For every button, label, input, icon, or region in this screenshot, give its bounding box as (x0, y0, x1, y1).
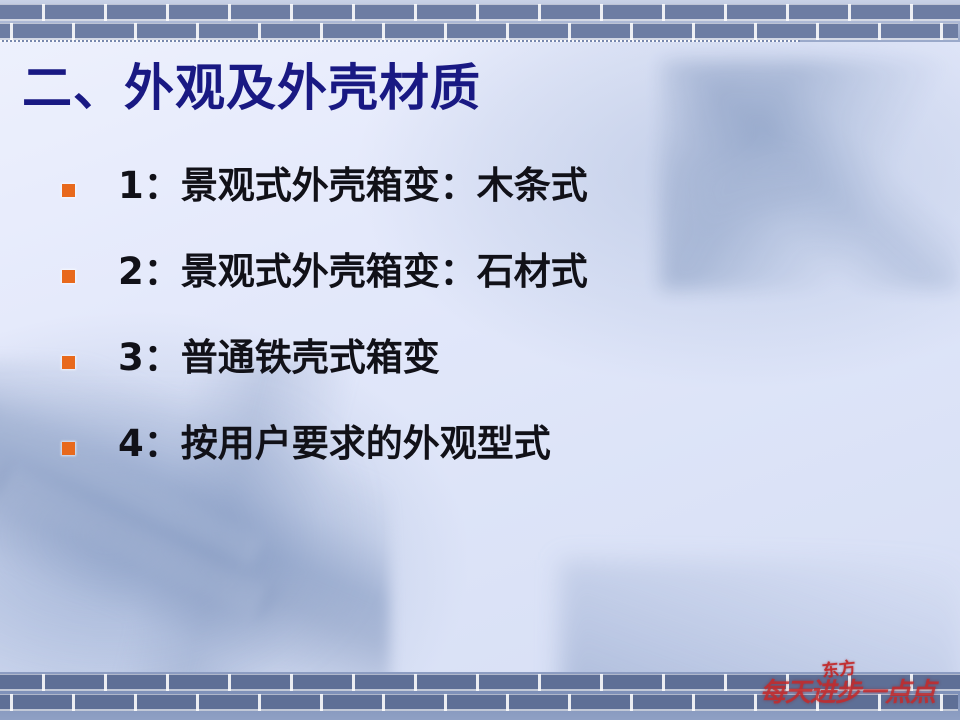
list-item-label: 3：普通铁壳式箱变 (118, 334, 440, 381)
list-item-label: 4：按用户要求的外观型式 (118, 420, 551, 467)
square-bullet-icon (62, 270, 75, 283)
bullet-list: 1：景观式外壳箱变：木条式 2：景观式外壳箱变：石材式 3：普通铁壳式箱变 4：… (0, 160, 960, 504)
dotted-separator-line (0, 40, 800, 42)
top-brick-border (0, 0, 960, 42)
list-item: 1：景观式外壳箱变：木条式 (0, 160, 960, 246)
presentation-slide: 二、外观及外壳材质 1：景观式外壳箱变：木条式 2：景观式外壳箱变：石材式 3：… (0, 0, 960, 720)
list-item-label: 1：景观式外壳箱变：木条式 (118, 162, 588, 209)
list-item: 4：按用户要求的外观型式 (0, 418, 960, 504)
square-bullet-icon (62, 356, 75, 369)
list-item-label: 2：景观式外壳箱变：石材式 (118, 248, 588, 295)
list-item: 2：景观式外壳箱变：石材式 (0, 246, 960, 332)
watermark-label: 每天进步一点点 (760, 680, 935, 706)
square-bullet-icon (62, 442, 75, 455)
list-item: 3：普通铁壳式箱变 (0, 332, 960, 418)
brick-row (0, 4, 960, 21)
watermark: 东方 每天进步一点点 (760, 676, 950, 710)
brick-row (0, 23, 958, 40)
square-bullet-icon (62, 184, 75, 197)
slide-title: 二、外观及外壳材质 (22, 63, 481, 113)
